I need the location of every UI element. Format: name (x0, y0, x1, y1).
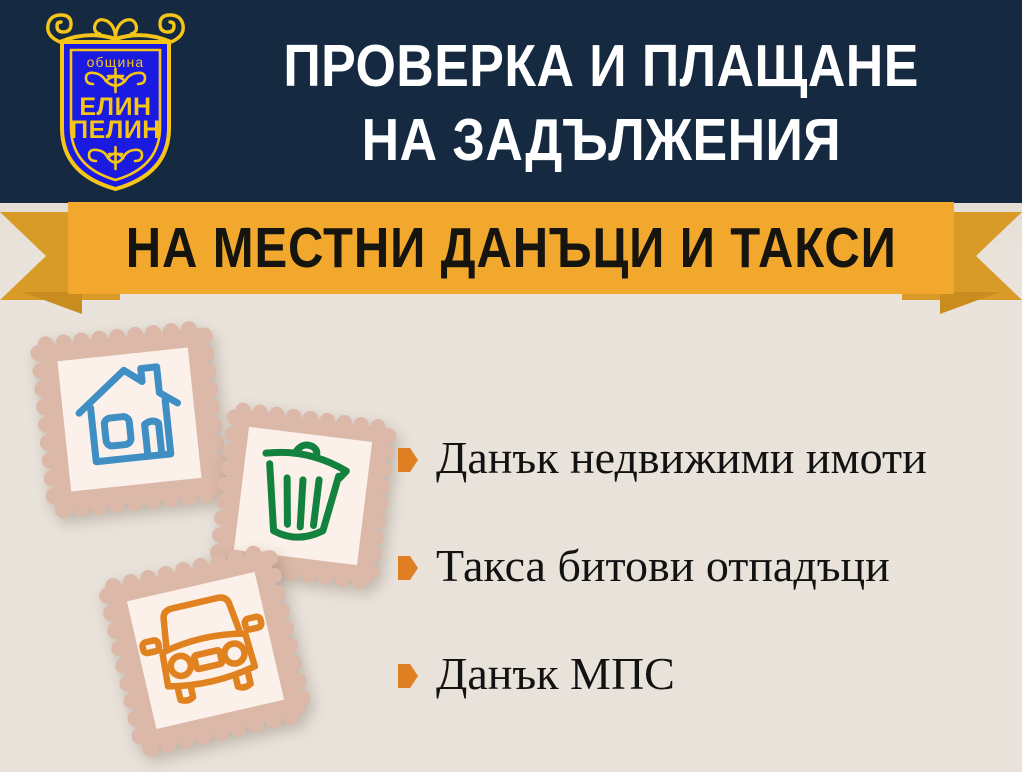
stamp-card-car (98, 543, 313, 758)
list-item[interactable]: Данък МПС (398, 640, 1010, 708)
list-item-label: Данък МПС (436, 648, 675, 700)
subtitle-ribbon: НА МЕСТНИ ДАНЪЦИ И ТАКСИ (0, 200, 1022, 310)
municipality-logo: община ЕЛИН ПЕЛИН (38, 8, 193, 193)
list-item-label: Такса битови отпадъци (436, 540, 890, 592)
list-item[interactable]: Данък недвижими имоти (398, 424, 1010, 492)
logo-line-obshtina: община (87, 54, 145, 70)
poster-canvas: община ЕЛИН ПЕЛИН ПРОВЕРКА И П (0, 0, 1022, 772)
arrow-bullet-icon (398, 448, 418, 472)
title-line-2: НА ЗАДЪЛЖЕНИЯ (361, 103, 840, 177)
coat-of-arms-shield-icon: община ЕЛИН ПЕЛИН (38, 8, 193, 193)
arrow-bullet-icon (398, 556, 418, 580)
logo-line-pelin: ПЕЛИН (70, 116, 161, 144)
list-item[interactable]: Такса битови отпадъци (398, 532, 1010, 600)
ribbon-label: НА МЕСТНИ ДАНЪЦИ И ТАКСИ (126, 219, 897, 277)
ribbon-band: НА МЕСТНИ ДАНЪЦИ И ТАКСИ (68, 202, 954, 294)
arrow-bullet-icon (398, 664, 418, 688)
stamp-car-graphic (98, 543, 313, 758)
services-list: Данък недвижими имоти Такса битови отпад… (398, 424, 1010, 708)
ribbon-fold-shadow-left (22, 292, 82, 314)
ribbon-fold-shadow-right (940, 292, 1000, 314)
poster-title: ПРОВЕРКА И ПЛАЩАНЕ НА ЗАДЪЛЖЕНИЯ (196, 20, 1006, 185)
title-line-1: ПРОВЕРКА И ПЛАЩАНЕ (283, 29, 918, 103)
list-item-label: Данък недвижими имоти (436, 432, 927, 484)
